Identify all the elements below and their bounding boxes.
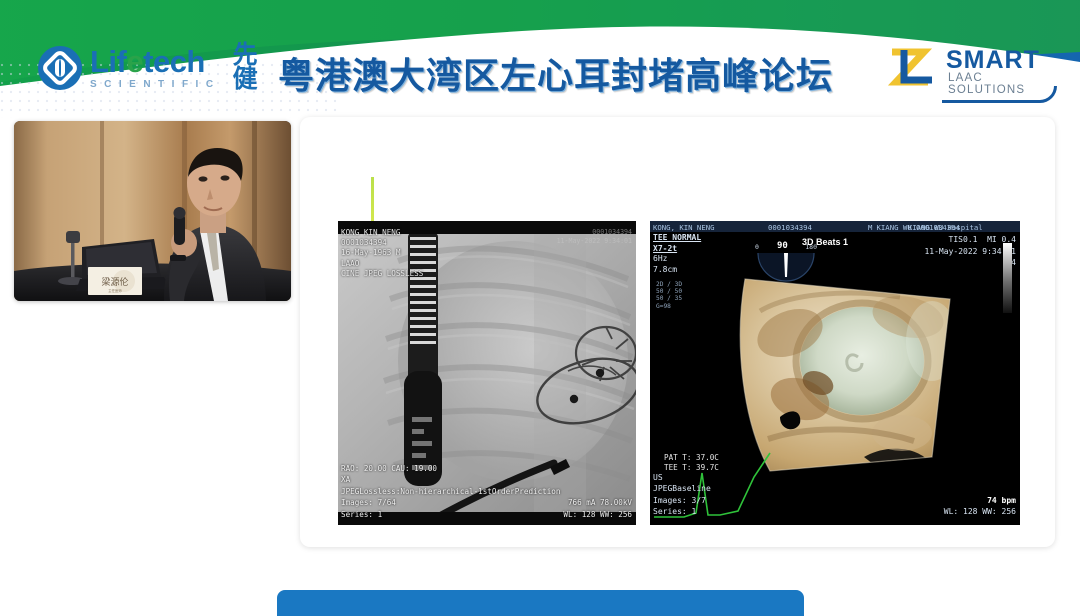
- echo-mode-settings: 2D / 3D 50 / 50 50 / 35 G=98: [656, 281, 682, 310]
- xray-exposure-info: 766 mA 78.00kV WL: 128 WW: 256: [563, 497, 632, 520]
- smart-name: SMART: [946, 46, 1040, 75]
- slide-content-card: KONG KIN NENG 0001034394 16-May-1963 M L…: [300, 117, 1055, 547]
- echo-greyscale-bar: [1003, 243, 1012, 313]
- smart-laac-logo: SMART LAAC SOLUTIONS: [884, 42, 1054, 98]
- angle-min-label: 0: [755, 243, 759, 251]
- echo-3d-image-panel[interactable]: KONG, KIN NENG 0001034394 M KIANG WU Hos…: [650, 221, 1020, 525]
- speaker-video-thumbnail[interactable]: 梁源伦 主任医师: [14, 121, 291, 301]
- echo-patient-id: 0001034394: [768, 223, 812, 232]
- xray-acquisition-info: RAO: 20.00 CAU: 19.00 XA JPEGLossless:No…: [341, 463, 560, 521]
- echo-probe-settings: TEE NORMAL X7-2t 6Hz 7.8cm: [653, 233, 701, 275]
- echo-heart-rate: 74 bpm: [987, 496, 1016, 505]
- lifetech-wordmark: Lifetech SCIENTIFIC: [90, 46, 221, 90]
- echo-header-bar: KONG, KIN NENG 0001034394 M KIANG WU Hos…: [650, 221, 1020, 232]
- lifetech-swirl-icon: [38, 46, 82, 90]
- smart-swoosh-icon: [942, 86, 1057, 103]
- lifetech-subtitle: SCIENTIFIC: [90, 80, 221, 90]
- echo-beats-label: 3D Beats 1: [802, 237, 848, 247]
- echo-window-levels: WL: 128 WW: 256: [944, 506, 1016, 518]
- angle-dial-icon: [755, 253, 817, 283]
- svg-text:梁源伦: 梁源伦: [101, 276, 128, 288]
- echo-study-id: KIANG WU 0001034394: [877, 223, 960, 232]
- green-accent-line: [371, 177, 374, 227]
- speaker-photo-graphic: 梁源伦 主任医师: [14, 121, 291, 301]
- xray-study-datetime: 0001034394 11-May-2022 9:34:01: [557, 228, 632, 246]
- lifetech-name: Lifetech: [90, 46, 221, 77]
- xray-patient-info: KONG KIN NENG 0001034394 16-May-1963 M L…: [341, 228, 423, 279]
- echo-temperature-readings: PAT T: 37.0C TEE T: 39.7C: [664, 453, 719, 473]
- angle-value-label: 90: [777, 241, 788, 251]
- lifetech-chinese-name: 先 健: [233, 44, 258, 92]
- page-title: 粤港澳大湾区左心耳封堵高峰论坛: [278, 47, 833, 99]
- echo-probe-angle-indicator: 0 90 180: [755, 243, 817, 283]
- fluoroscopy-image-panel[interactable]: KONG KIN NENG 0001034394 16-May-1963 M L…: [338, 221, 636, 525]
- lifetech-logo: Lifetech SCIENTIFIC 先 健: [38, 44, 258, 92]
- svg-text:主任医师: 主任医师: [108, 288, 122, 293]
- echo-patient-name: KONG, KIN NENG: [653, 223, 715, 232]
- echo-patient-sex: M: [868, 223, 872, 232]
- bottom-accent-bar: [277, 590, 804, 616]
- echo-acquisition-info: US JPEGBaseline Images: 3/7 Series: 1: [653, 472, 711, 517]
